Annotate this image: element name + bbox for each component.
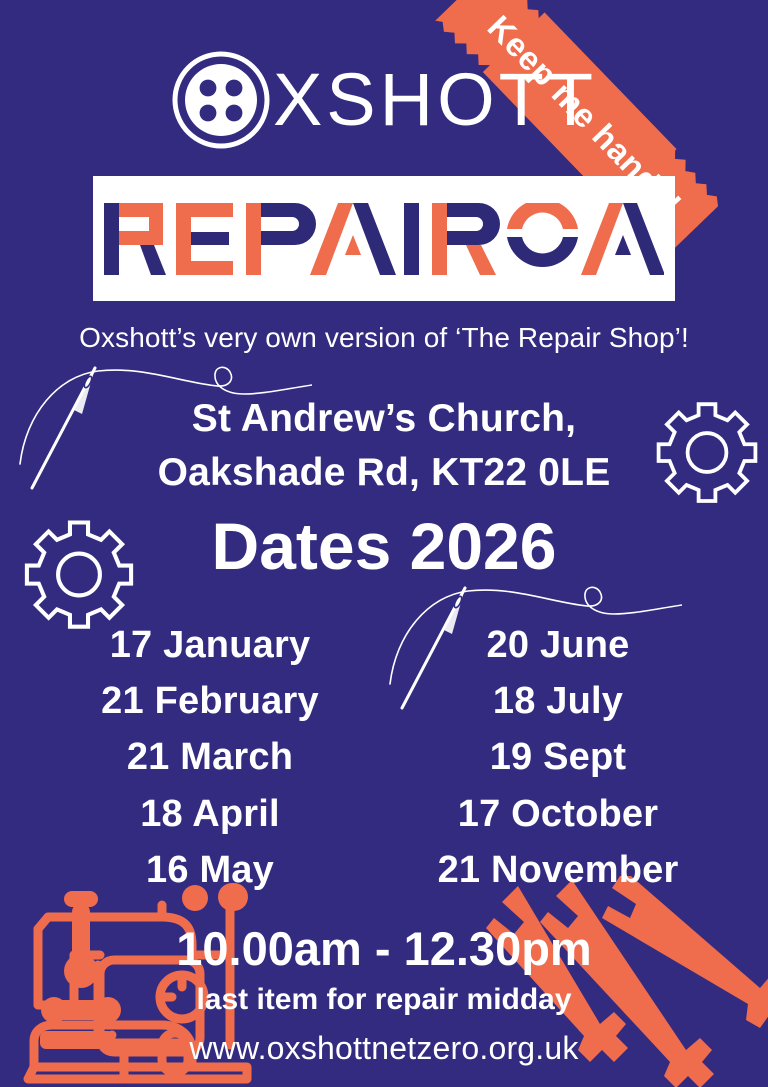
- brand-header: XSHOTT: [0, 50, 768, 150]
- tagline: Oxshott’s very own version of ‘The Repai…: [0, 322, 768, 354]
- venue-line-2: Oakshade Rd, KT22 0LE: [0, 446, 768, 500]
- date-item: 21 November: [388, 842, 728, 898]
- dates-column-left: 17 January 21 February 21 March 18 April…: [40, 617, 384, 898]
- brand-name: XSHOTT: [273, 63, 597, 137]
- repair-cafe-banner: [93, 176, 675, 301]
- cutoff-note: last item for repair midday: [0, 985, 768, 1015]
- date-item: 17 October: [388, 786, 728, 842]
- date-item: 18 April: [40, 786, 380, 842]
- button-icon: [171, 50, 271, 150]
- dates-grid: 17 January 21 February 21 March 18 April…: [40, 617, 728, 898]
- date-item: 20 June: [388, 617, 728, 673]
- repair-cafe-wordmark: [104, 203, 664, 275]
- date-item: 19 Sept: [388, 729, 728, 785]
- date-item: 17 January: [40, 617, 380, 673]
- opening-hours: 10.00am - 12.30pm: [0, 925, 768, 972]
- website-url[interactable]: www.oxshottnetzero.org.uk: [0, 1032, 768, 1064]
- date-item: 21 February: [40, 673, 380, 729]
- date-item: 21 March: [40, 729, 380, 785]
- dates-column-right: 20 June 18 July 19 Sept 17 October 21 No…: [384, 617, 728, 898]
- venue-line-1: St Andrew’s Church,: [0, 392, 768, 446]
- poster-canvas: Keep me handy! XSHOTT: [0, 0, 768, 1087]
- venue-address: St Andrew’s Church, Oakshade Rd, KT22 0L…: [0, 392, 768, 500]
- date-item: 18 July: [388, 673, 728, 729]
- dates-heading: Dates 2026: [0, 513, 768, 579]
- date-item: 16 May: [40, 842, 380, 898]
